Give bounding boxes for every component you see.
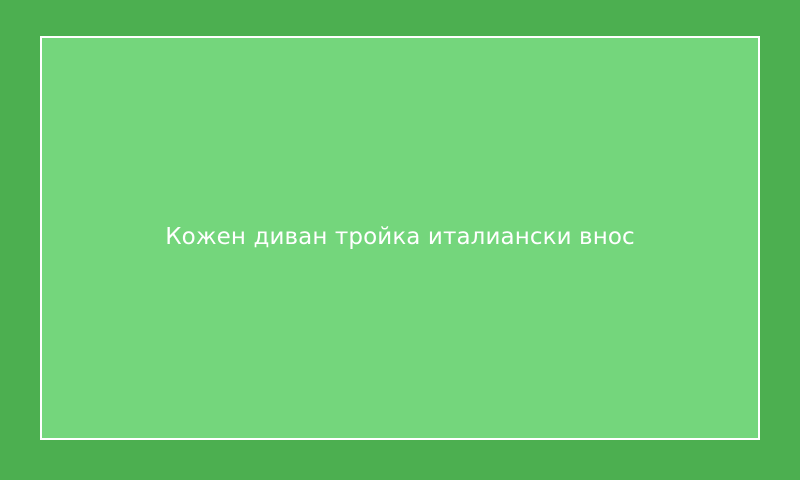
placeholder-canvas: Кожен диван тройка италиански внос: [0, 0, 800, 480]
placeholder-frame: Кожен диван тройка италиански внос: [40, 36, 760, 440]
placeholder-caption: Кожен диван тройка италиански внос: [42, 224, 758, 252]
